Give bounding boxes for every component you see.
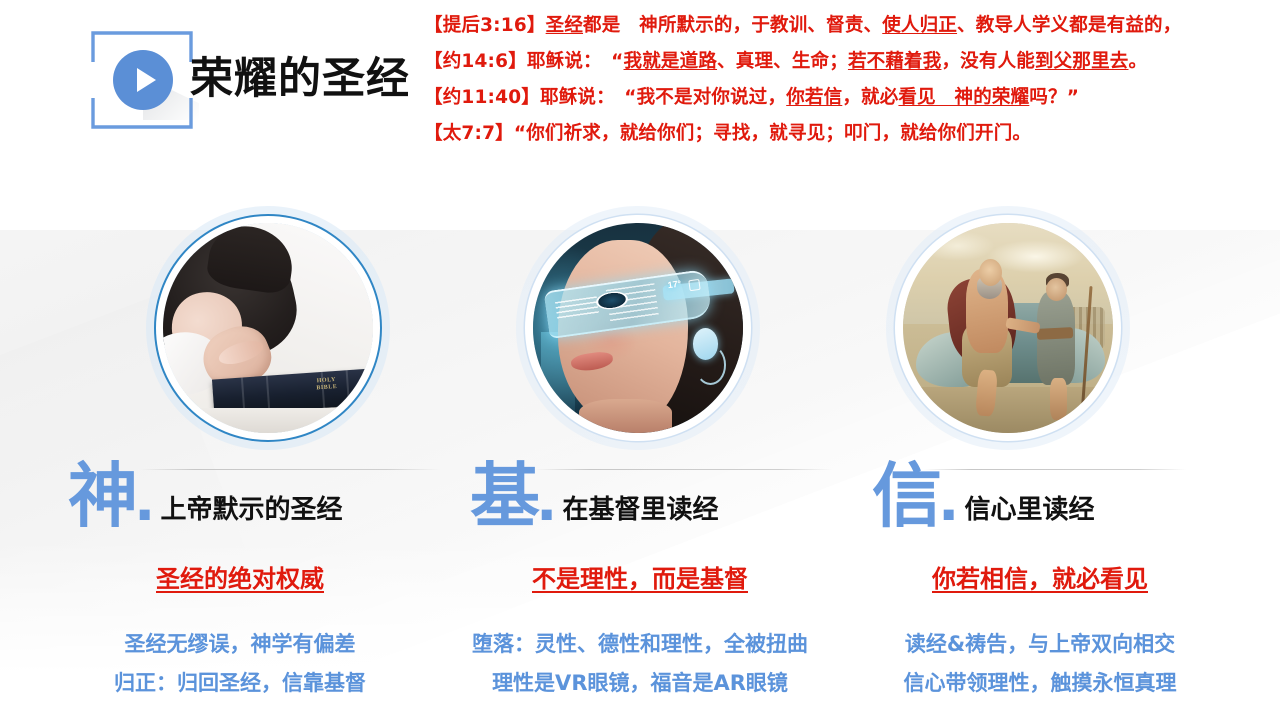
column-1-big-char: 神 xyxy=(68,461,137,531)
scripture-line-3: 【约11:40】耶稣说： “我不是对你说过，你若信，就必看见 神的荣耀吗？” xyxy=(424,80,1254,116)
column-3-dot: . xyxy=(939,461,958,531)
column-2-body: 堕落：灵性、德性和理性，全被扭曲 理性是VR眼镜，福音是AR眼镜 xyxy=(440,625,840,703)
column-1-heading: 神 . 上帝默示的圣经 xyxy=(68,461,342,531)
girl-praying-over-holy-bible-illustration: HOLYBIBLE xyxy=(163,223,373,433)
column-1-dot: . xyxy=(135,461,154,531)
column-3-red-line: 你若相信，就必看见 xyxy=(850,559,1230,594)
column-3-big-char: 信 xyxy=(872,461,941,531)
column-3-body-line-2: 信心带领理性，触摸永恒真理 xyxy=(850,664,1230,703)
column-1-subhead: 上帝默示的圣经 xyxy=(160,489,342,526)
scripture-line-4: 【太7:7】“你们祈求，就给你们；寻找，就寻见；叩门，就给你们开门。 xyxy=(424,116,1254,152)
column-1-body-line-1: 圣经无缪误，神学有偏差 xyxy=(40,625,440,664)
column-2-red-line: 不是理性，而是基督 xyxy=(440,559,840,594)
slide-header: 荣耀的圣经 【提后3:16】圣经都是 神所默示的，于教训、督责、使人归正、教导人… xyxy=(0,0,1280,160)
column-2-subhead: 在基督里读经 xyxy=(562,489,718,526)
woman-wearing-ar-smart-glasses-illustration: 17° xyxy=(533,223,743,433)
column-2-big-char: 基 xyxy=(470,461,539,531)
scripture-block: 【提后3:16】圣经都是 神所默示的，于教训、督责、使人归正、教导人学义都是有益… xyxy=(424,8,1254,152)
circle-image-2: 17° xyxy=(533,223,743,433)
column-1-red-line: 圣经的绝对权威 xyxy=(40,559,440,594)
scripture-line-1: 【提后3:16】圣经都是 神所默示的，于教训、督责、使人归正、教导人学义都是有益… xyxy=(424,8,1254,44)
column-3-body: 读经&祷告，与上帝双向相交 信心带领理性，触摸永恒真理 xyxy=(850,625,1230,703)
play-circle-icon xyxy=(113,50,173,110)
column-2-dot: . xyxy=(537,461,556,531)
brand-logo xyxy=(88,28,196,132)
circle-image-3 xyxy=(903,223,1113,433)
column-1-body: 圣经无缪误，神学有偏差 归正：归回圣经，信靠基督 xyxy=(40,625,440,703)
column-2-body-line-1: 堕落：灵性、德性和理性，全被扭曲 xyxy=(440,625,840,664)
circle-image-1: HOLYBIBLE xyxy=(163,223,373,433)
slide-canvas: 荣耀的圣经 【提后3:16】圣经都是 神所默示的，于教训、督责、使人归正、教导人… xyxy=(0,0,1280,720)
column-3-body-line-1: 读经&祷告，与上帝双向相交 xyxy=(850,625,1230,664)
image-row: HOLYBIBLE 17° xyxy=(0,205,1280,450)
column-3-heading: 信 . 信心里读经 xyxy=(872,461,1094,531)
column-2-body-line-2: 理性是VR眼镜，福音是AR眼镜 xyxy=(440,664,840,703)
column-2-heading: 基 . 在基督里读经 xyxy=(470,461,718,531)
moses-and-joshua-crossing-the-sea-painting xyxy=(903,223,1113,433)
page-title: 荣耀的圣经 xyxy=(190,44,410,106)
column-1-body-line-2: 归正：归回圣经，信靠基督 xyxy=(40,664,440,703)
column-3-subhead: 信心里读经 xyxy=(964,489,1094,526)
scripture-line-2: 【约14:6】耶稣说： “我就是道路、真理、生命；若不藉着我，没有人能到父那里去… xyxy=(424,44,1254,80)
